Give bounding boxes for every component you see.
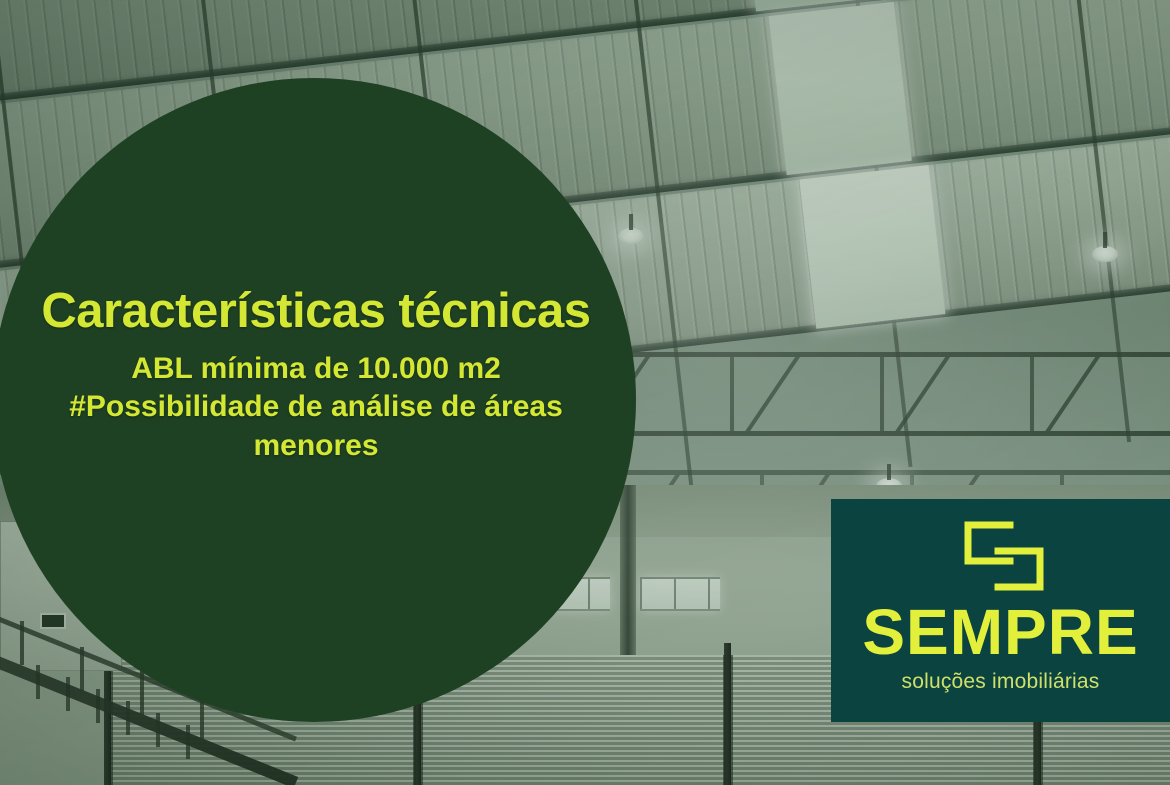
sempre-s-monogram-icon [958, 521, 1050, 599]
sempre-wordmark: SEMPRE [862, 601, 1138, 664]
headline-line-2: #Possibilidade de análise de áreas [0, 388, 632, 426]
headline-subtext: ABL mínima de 10.000 m2 #Possibilidade d… [0, 350, 632, 465]
slide-canvas: Características técnicas ABL mínima de 1… [0, 0, 1170, 785]
sempre-logo-box: SEMPRE soluções imobiliárias [831, 499, 1170, 722]
headline-line-3: menores [0, 427, 632, 465]
sempre-tagline: soluções imobiliárias [902, 670, 1100, 694]
page-title: Características técnicas [0, 286, 632, 338]
headline-line-1: ABL mínima de 10.000 m2 [0, 350, 632, 388]
headline-block: Características técnicas ABL mínima de 1… [0, 286, 632, 465]
